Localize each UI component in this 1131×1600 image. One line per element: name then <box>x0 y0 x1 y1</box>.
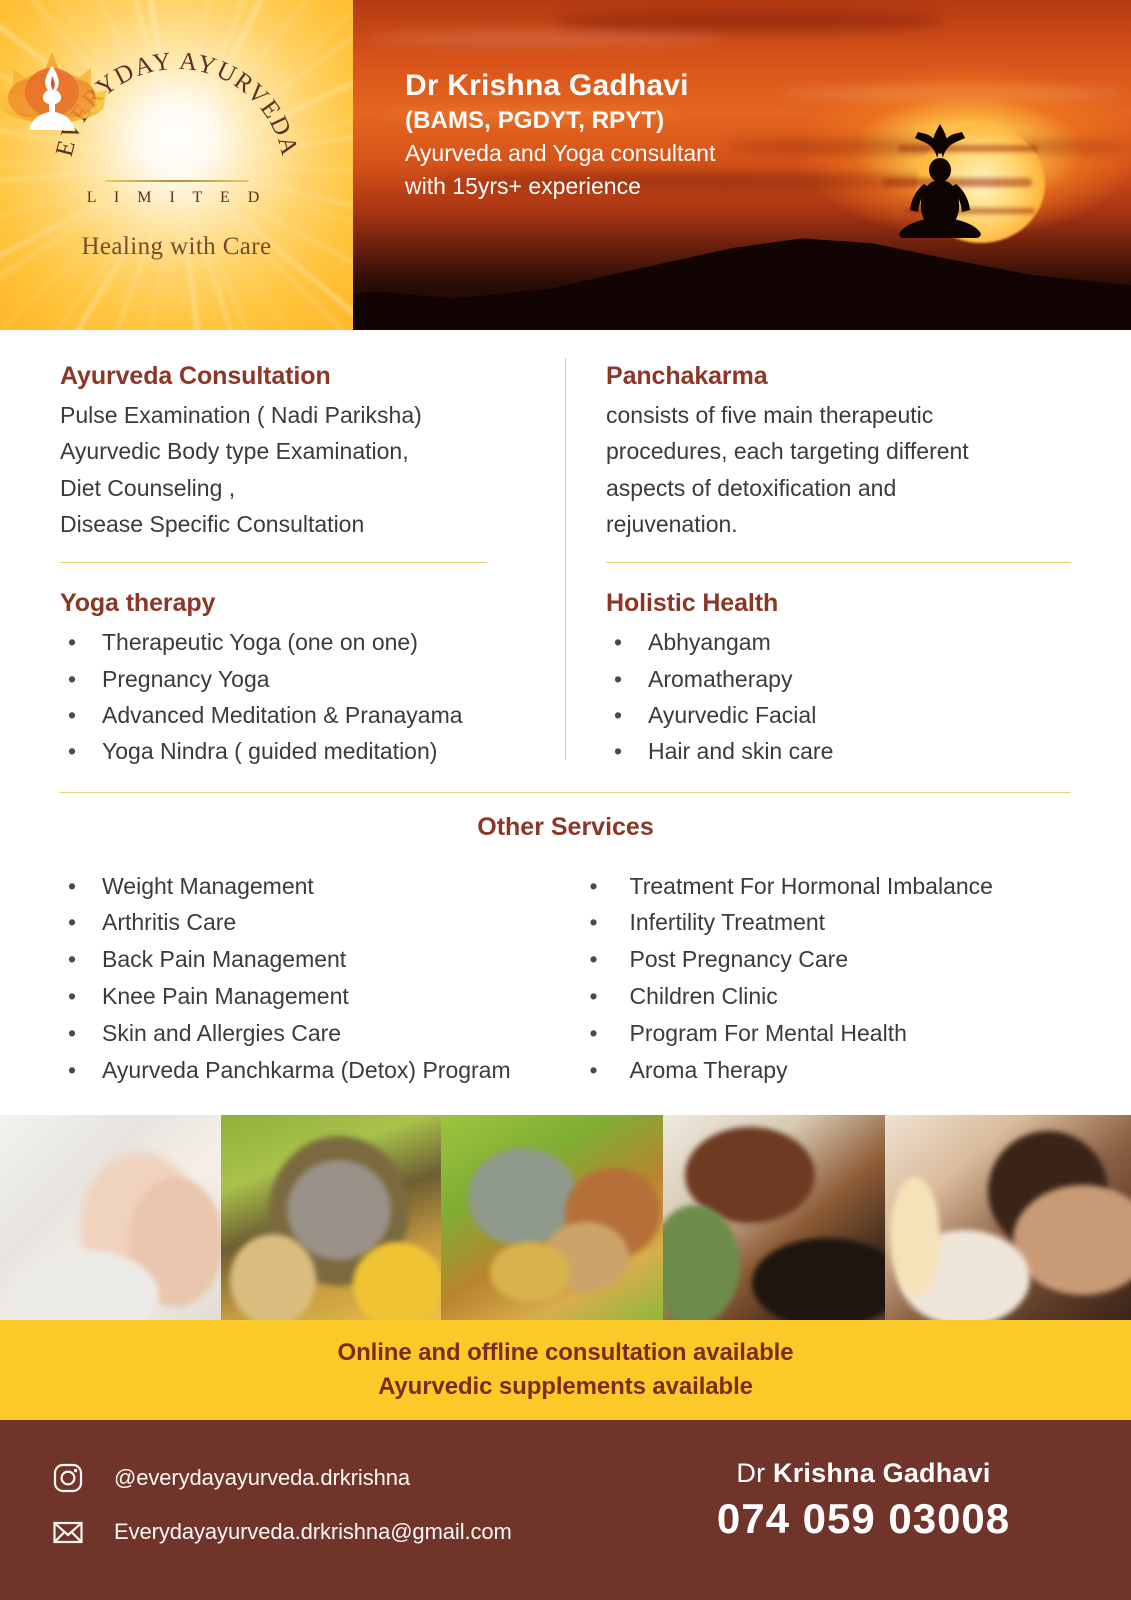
divider-panchakarma <box>606 562 1071 563</box>
panchakarma-line-4: rejuvenation. <box>606 506 1071 542</box>
bullet-icon: • <box>68 904 76 941</box>
bullet-icon: • <box>68 697 76 733</box>
other-service-item-label: Weight Management <box>102 873 314 899</box>
divider-other-services <box>60 792 1071 793</box>
header: EVERYDAY AYURVEDA <box>0 0 1131 330</box>
bullet-icon: • <box>590 868 598 905</box>
other-service-item-label: Infertility Treatment <box>630 909 826 935</box>
envelope-icon[interactable] <box>52 1516 84 1548</box>
photo-strip <box>0 1115 1131 1320</box>
other-service-item-label: Arthritis Care <box>102 909 236 935</box>
yoga-list-item-label: Yoga Nindra ( guided meditation) <box>102 738 437 764</box>
email-row[interactable]: Everydayayurveda.drkrishna@gmail.com <box>52 1516 640 1548</box>
other-service-item-label: Knee Pain Management <box>102 983 349 1009</box>
banner-line-2: Ayurvedic supplements available <box>378 1373 753 1401</box>
services-section: Ayurveda Consultation Pulse Examination … <box>0 330 1131 1088</box>
holistic-list-item-label: Abhyangam <box>648 629 771 655</box>
consultation-lines: Pulse Examination ( Nadi Pariksha)Ayurve… <box>60 397 525 542</box>
panchakarma-line-1: consists of five main therapeutic <box>606 397 1071 433</box>
panchakarma-title: Panchakarma <box>606 362 1071 391</box>
other-service-item-label: Children Clinic <box>630 983 778 1009</box>
other-service-item: •Program For Mental Health <box>574 1015 1072 1052</box>
other-service-item-label: Skin and Allergies Care <box>102 1020 341 1046</box>
bullet-icon: • <box>68 624 76 660</box>
bullet-icon: • <box>614 624 622 660</box>
holistic-list-item: •Ayurvedic Facial <box>606 697 1071 733</box>
photo-back-massage <box>885 1115 1131 1320</box>
other-service-item: •Back Pain Management <box>60 941 566 978</box>
other-service-item: •Treatment For Hormonal Imbalance <box>574 868 1072 905</box>
bullet-icon: • <box>614 661 622 697</box>
footer-doctor-name: Dr Krishna Gadhavi <box>640 1458 1087 1489</box>
consultation-line-3: Diet Counseling , <box>60 470 525 506</box>
other-service-item: •Children Clinic <box>574 978 1072 1015</box>
other-service-item-label: Program For Mental Health <box>630 1020 907 1046</box>
holistic-list-item: •Abhyangam <box>606 624 1071 660</box>
yoga-list-item: •Pregnancy Yoga <box>60 661 525 697</box>
hero-role-line-1: Ayurveda and Yoga consultant <box>405 138 715 169</box>
holistic-list-item: •Hair and skin care <box>606 733 1071 769</box>
photo-ayurvedic-herbs <box>441 1115 663 1320</box>
footer: @everydayayurveda.drkrishna Everydayayur… <box>0 1420 1131 1600</box>
column-consultation: Ayurveda Consultation Pulse Examination … <box>60 330 565 770</box>
bullet-icon: • <box>68 941 76 978</box>
photo-herbal-mortar <box>221 1115 441 1320</box>
footer-doctor-block: Dr Krishna Gadhavi 074 059 03008 <box>640 1420 1131 1600</box>
logo-tagline: Healing with Care <box>81 233 271 261</box>
bullet-icon: • <box>614 733 622 769</box>
consultation-title: Ayurveda Consultation <box>60 362 525 391</box>
yoga-list-item: •Advanced Meditation & Pranayama <box>60 697 525 733</box>
other-service-item: •Infertility Treatment <box>574 904 1072 941</box>
instagram-icon[interactable] <box>52 1462 84 1494</box>
other-service-item: •Knee Pain Management <box>60 978 566 1015</box>
panchakarma-line-2: procedures, each targeting different <box>606 433 1071 469</box>
other-right-column: •Treatment For Hormonal Imbalance•Infert… <box>566 866 1072 1089</box>
yoga-list-item: •Yoga Nindra ( guided meditation) <box>60 733 525 769</box>
photo-foot-massage <box>0 1115 221 1320</box>
other-left-list: •Weight Management•Arthritis Care•Back P… <box>60 868 566 1089</box>
holistic-title: Holistic Health <box>606 589 1071 618</box>
hero-qualifications: (BAMS, PGDYT, RPYT) <box>405 105 715 136</box>
bullet-icon: • <box>68 1052 76 1089</box>
other-services-title: Other Services <box>0 813 1131 842</box>
bullet-icon: • <box>68 868 76 905</box>
bullet-icon: • <box>614 697 622 733</box>
other-left-column: •Weight Management•Arthritis Care•Back P… <box>60 866 566 1089</box>
panchakarma-lines: consists of five main therapeuticprocedu… <box>606 397 1071 542</box>
banner-line-1: Online and offline consultation availabl… <box>338 1339 794 1367</box>
footer-phone-number[interactable]: 074 059 03008 <box>640 1495 1087 1543</box>
holistic-list-item-label: Aromatherapy <box>648 666 792 692</box>
availability-banner: Online and offline consultation availabl… <box>0 1320 1131 1420</box>
bullet-icon: • <box>68 661 76 697</box>
other-service-item: •Skin and Allergies Care <box>60 1015 566 1052</box>
holistic-list-item: •Aromatherapy <box>606 661 1071 697</box>
bullet-icon: • <box>68 733 76 769</box>
hero-doctor-name: Dr Krishna Gadhavi <box>405 68 715 105</box>
holistic-list-item-label: Ayurvedic Facial <box>648 702 816 728</box>
other-service-item: •Weight Management <box>60 868 566 905</box>
consultation-line-2: Ayurvedic Body type Examination, <box>60 433 525 469</box>
bullet-icon: • <box>68 1015 76 1052</box>
other-service-item: •Post Pregnancy Care <box>574 941 1072 978</box>
other-service-item-label: Back Pain Management <box>102 946 346 972</box>
yoga-title: Yoga therapy <box>60 589 525 618</box>
yoga-list-item: •Therapeutic Yoga (one on one) <box>60 624 525 660</box>
logo-limited-text: L I M I T E D <box>87 189 267 207</box>
yoga-silhouette-icon <box>894 118 986 252</box>
lotus-figure-icon <box>0 46 111 138</box>
bullet-icon: • <box>68 978 76 1015</box>
yoga-list-item-label: Therapeutic Yoga (one on one) <box>102 629 418 655</box>
email-address[interactable]: Everydayayurveda.drkrishna@gmail.com <box>114 1519 512 1545</box>
logo-divider <box>105 180 249 182</box>
hero-sunset-image: Dr Krishna Gadhavi (BAMS, PGDYT, RPYT) A… <box>353 0 1131 330</box>
bullet-icon: • <box>590 1052 598 1089</box>
footer-contact-block: @everydayayurveda.drkrishna Everydayayur… <box>0 1420 640 1600</box>
holistic-list: •Abhyangam•Aromatherapy•Ayurvedic Facial… <box>606 624 1071 769</box>
other-service-item: •Arthritis Care <box>60 904 566 941</box>
consultation-line-4: Disease Specific Consultation <box>60 506 525 542</box>
instagram-handle[interactable]: @everydayayurveda.drkrishna <box>114 1465 410 1491</box>
footer-doctor-lastname: Krishna Gadhavi <box>773 1458 991 1488</box>
logo-panel: EVERYDAY AYURVEDA <box>0 0 353 330</box>
logo-arc: EVERYDAY AYURVEDA <box>52 46 302 178</box>
bullet-icon: • <box>590 941 598 978</box>
other-services-grid: •Weight Management•Arthritis Care•Back P… <box>0 866 1131 1089</box>
instagram-row[interactable]: @everydayayurveda.drkrishna <box>52 1462 640 1494</box>
other-service-item-label: Ayurveda Panchkarma (Detox) Program <box>102 1057 511 1083</box>
yoga-list: •Therapeutic Yoga (one on one)•Pregnancy… <box>60 624 525 769</box>
other-service-item-label: Post Pregnancy Care <box>630 946 849 972</box>
services-grid-top: Ayurveda Consultation Pulse Examination … <box>0 330 1131 770</box>
panchakarma-line-3: aspects of detoxification and <box>606 470 1071 506</box>
bullet-icon: • <box>590 978 598 1015</box>
other-service-item: •Ayurveda Panchkarma (Detox) Program <box>60 1052 566 1089</box>
yoga-list-item-label: Advanced Meditation & Pranayama <box>102 702 463 728</box>
column-panchakarma: Panchakarma consists of five main therap… <box>566 330 1071 770</box>
other-service-item: •Aroma Therapy <box>574 1052 1072 1089</box>
other-service-item-label: Aroma Therapy <box>630 1057 788 1083</box>
other-service-item-label: Treatment For Hormonal Imbalance <box>630 873 993 899</box>
bullet-icon: • <box>590 1015 598 1052</box>
flyer-poster: EVERYDAY AYURVEDA <box>0 0 1131 1600</box>
hero-role-line-2: with 15yrs+ experience <box>405 171 715 202</box>
holistic-list-item-label: Hair and skin care <box>648 738 833 764</box>
footer-doctor-prefix: Dr <box>736 1458 773 1488</box>
bullet-icon: • <box>590 904 598 941</box>
hero-text-block: Dr Krishna Gadhavi (BAMS, PGDYT, RPYT) A… <box>405 68 715 202</box>
yoga-list-item-label: Pregnancy Yoga <box>102 666 270 692</box>
divider-consultation <box>60 562 487 563</box>
consultation-line-1: Pulse Examination ( Nadi Pariksha) <box>60 397 525 433</box>
other-right-list: •Treatment For Hormonal Imbalance•Infert… <box>574 868 1072 1089</box>
photo-shirodhara <box>663 1115 885 1320</box>
